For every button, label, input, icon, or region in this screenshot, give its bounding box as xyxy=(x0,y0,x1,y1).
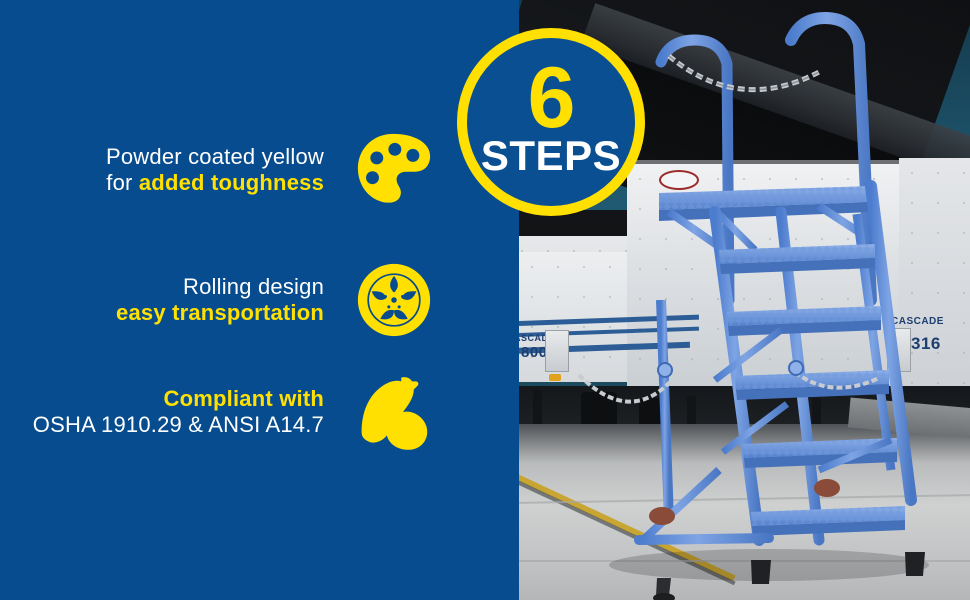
steps-count-badge: 6 STEPS xyxy=(457,28,645,216)
feature-line-1: Compliant with xyxy=(33,386,324,412)
feature-item-rolling-design: Rolling design easy transportation xyxy=(0,254,440,346)
feature-item-compliance: Compliant with OSHA 1910.29 & ANSI A14.7 xyxy=(0,366,440,458)
feature-line-1: Rolling design xyxy=(116,274,324,300)
feature-line-2: for added toughness xyxy=(106,170,324,196)
wheel-icon xyxy=(348,254,440,346)
badge-label: STEPS xyxy=(481,135,621,177)
paint-palette-icon xyxy=(348,124,440,216)
feature-item-powder-coated: Powder coated yellow for added toughness xyxy=(0,124,440,216)
product-feature-banner: CASCADE 800 CASCADE 316 xyxy=(0,0,970,600)
feature-line-2-plain: for xyxy=(106,170,139,195)
feature-text: Compliant with OSHA 1910.29 & ANSI A14.7 xyxy=(33,386,324,438)
flexed-bicep-icon xyxy=(348,366,440,458)
feature-text: Rolling design easy transportation xyxy=(116,274,324,326)
feature-line-2-bold: added toughness xyxy=(139,170,324,195)
feature-line-2: OSHA 1910.29 & ANSI A14.7 xyxy=(33,412,324,438)
feature-line-2: easy transportation xyxy=(116,300,324,326)
feature-line-1: Powder coated yellow xyxy=(106,144,324,170)
features-panel: Powder coated yellow for added toughness… xyxy=(0,0,519,600)
feature-text: Powder coated yellow for added toughness xyxy=(106,144,324,196)
badge-number: 6 xyxy=(528,63,575,134)
